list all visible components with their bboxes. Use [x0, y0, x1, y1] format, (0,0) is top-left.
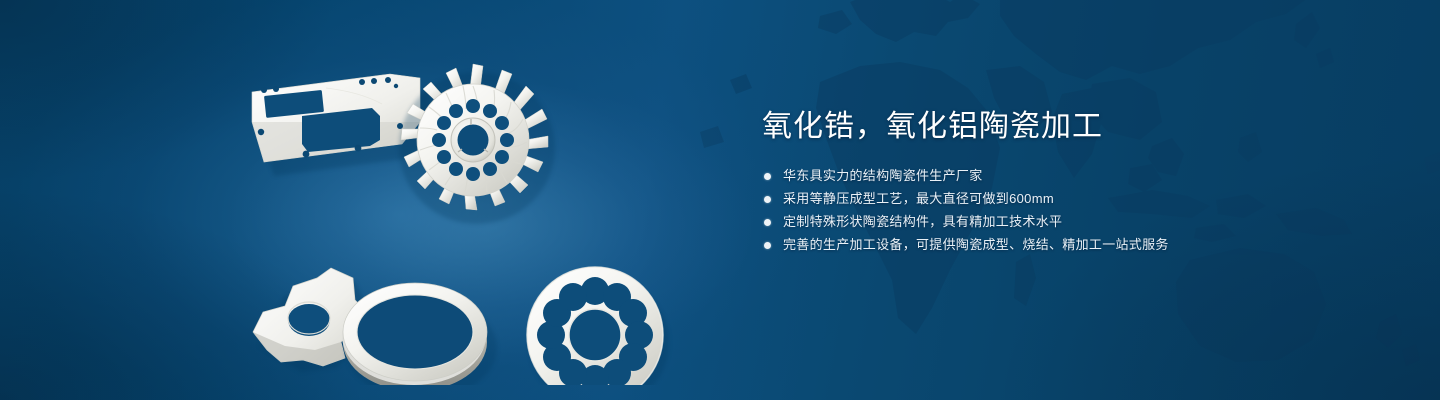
- feature-text: 定制特殊形状陶瓷结构件，具有精加工技术水平: [783, 214, 1062, 230]
- feature-list: 华东具实力的结构陶瓷件生产厂家 采用等静压成型工艺，最大直径可做到600mm 定…: [764, 168, 1382, 253]
- ceramic-rings-shape: [342, 283, 497, 385]
- list-item: 采用等静压成型工艺，最大直径可做到600mm: [764, 191, 1382, 207]
- ceramic-impeller-shape: [399, 64, 555, 224]
- page-title: 氧化锆，氧化铝陶瓷加工: [762, 108, 1382, 146]
- feature-text: 采用等静压成型工艺，最大直径可做到600mm: [783, 191, 1054, 207]
- ceramic-products-image: [230, 40, 710, 385]
- feature-text: 完善的生产加工设备，可提供陶瓷成型、烧结、精加工一站式服务: [783, 237, 1169, 253]
- bullet-dot-icon: [764, 219, 771, 226]
- ceramic-perforated-disc-shape: [527, 267, 669, 385]
- bullet-dot-icon: [764, 173, 771, 180]
- bullet-dot-icon: [764, 196, 771, 203]
- banner-copy: 氧化锆，氧化铝陶瓷加工 华东具实力的结构陶瓷件生产厂家 采用等静压成型工艺，最大…: [762, 108, 1382, 260]
- feature-text: 华东具实力的结构陶瓷件生产厂家: [783, 168, 983, 184]
- list-item: 华东具实力的结构陶瓷件生产厂家: [764, 168, 1382, 184]
- list-item: 定制特殊形状陶瓷结构件，具有精加工技术水平: [764, 214, 1382, 230]
- bullet-dot-icon: [764, 242, 771, 249]
- list-item: 完善的生产加工设备，可提供陶瓷成型、烧结、精加工一站式服务: [764, 237, 1382, 253]
- hero-banner: 氧化锆，氧化铝陶瓷加工 华东具实力的结构陶瓷件生产厂家 采用等静压成型工艺，最大…: [0, 0, 1440, 400]
